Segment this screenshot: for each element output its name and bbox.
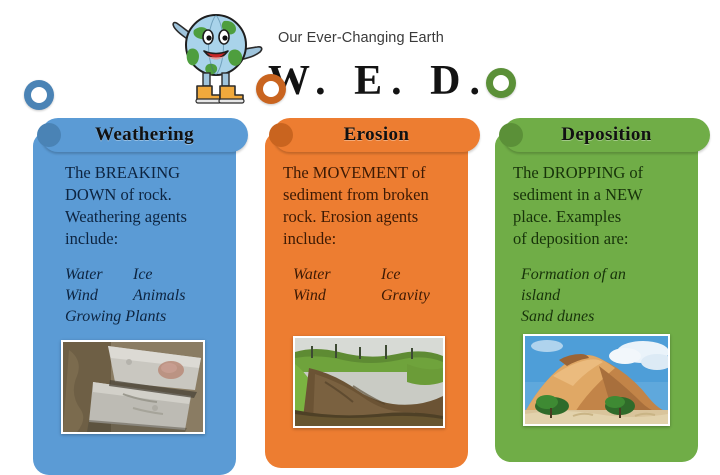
example-row: Growing Plants — [65, 306, 225, 327]
scroll-curl-icon — [486, 68, 516, 98]
example-item: Growing Plants — [65, 306, 225, 327]
example-item: Gravity — [381, 285, 463, 306]
banner-curl-icon — [499, 123, 523, 147]
card-deposition-definition: The DROPPING of sediment in a NEW place.… — [513, 162, 695, 250]
example-row: Sand dunes — [521, 306, 695, 327]
poster-title: W. E. D. — [268, 58, 489, 104]
example-item: Wind — [65, 285, 133, 306]
example-item: island — [521, 285, 695, 306]
card-deposition-text: The DROPPING of sediment in a NEW place.… — [513, 162, 695, 327]
poster-canvas: Our Ever-Changing Earth W. E. D. Weather… — [0, 0, 720, 475]
card-weathering-examples: Water Ice Wind Animals Growing Plants — [65, 264, 225, 327]
poster-tagline: Our Ever-Changing Earth — [278, 30, 444, 46]
example-row: Formation of an — [521, 264, 695, 285]
example-item: Water — [293, 264, 381, 285]
card-weathering-photo — [61, 340, 205, 434]
card-deposition-examples: Formation of an island Sand dunes — [513, 264, 695, 327]
poster-header: Our Ever-Changing Earth W. E. D. — [0, 0, 720, 110]
example-item: Ice — [381, 264, 463, 285]
example-row: island — [521, 285, 695, 306]
scroll-curl-icon — [24, 80, 54, 110]
card-erosion-text: The MOVEMENT of sediment from broken roc… — [283, 162, 463, 306]
banner-curl-icon — [37, 123, 61, 147]
example-item: Wind — [293, 285, 381, 306]
example-row: Wind Gravity — [293, 285, 463, 306]
card-deposition-photo — [523, 334, 670, 426]
example-item: Sand dunes — [521, 306, 695, 327]
banner-curl-icon — [269, 123, 293, 147]
earth-globe-mascot-icon — [164, 4, 268, 106]
card-weathering-definition: The BREAKING DOWN of rock. Weathering ag… — [65, 162, 225, 250]
example-item: Formation of an — [521, 264, 695, 285]
card-weathering-text: The BREAKING DOWN of rock. Weathering ag… — [65, 162, 225, 327]
card-erosion-definition: The MOVEMENT of sediment from broken roc… — [283, 162, 463, 250]
card-weathering-title: Weathering — [41, 118, 248, 152]
example-row: Water Ice — [65, 264, 225, 285]
card-weathering-banner: Weathering — [41, 118, 248, 152]
card-erosion-banner: Erosion — [273, 118, 480, 152]
card-deposition-title: Deposition — [503, 118, 710, 152]
example-item: Animals — [133, 285, 225, 306]
scroll-curl-icon — [256, 74, 286, 104]
example-item: Ice — [133, 264, 225, 285]
card-erosion-photo — [293, 336, 445, 428]
card-erosion-title: Erosion — [273, 118, 480, 152]
example-row: Wind Animals — [65, 285, 225, 306]
card-erosion-examples: Water Ice Wind Gravity — [283, 264, 463, 306]
example-row: Water Ice — [293, 264, 463, 285]
card-deposition-banner: Deposition — [503, 118, 710, 152]
example-item: Water — [65, 264, 133, 285]
